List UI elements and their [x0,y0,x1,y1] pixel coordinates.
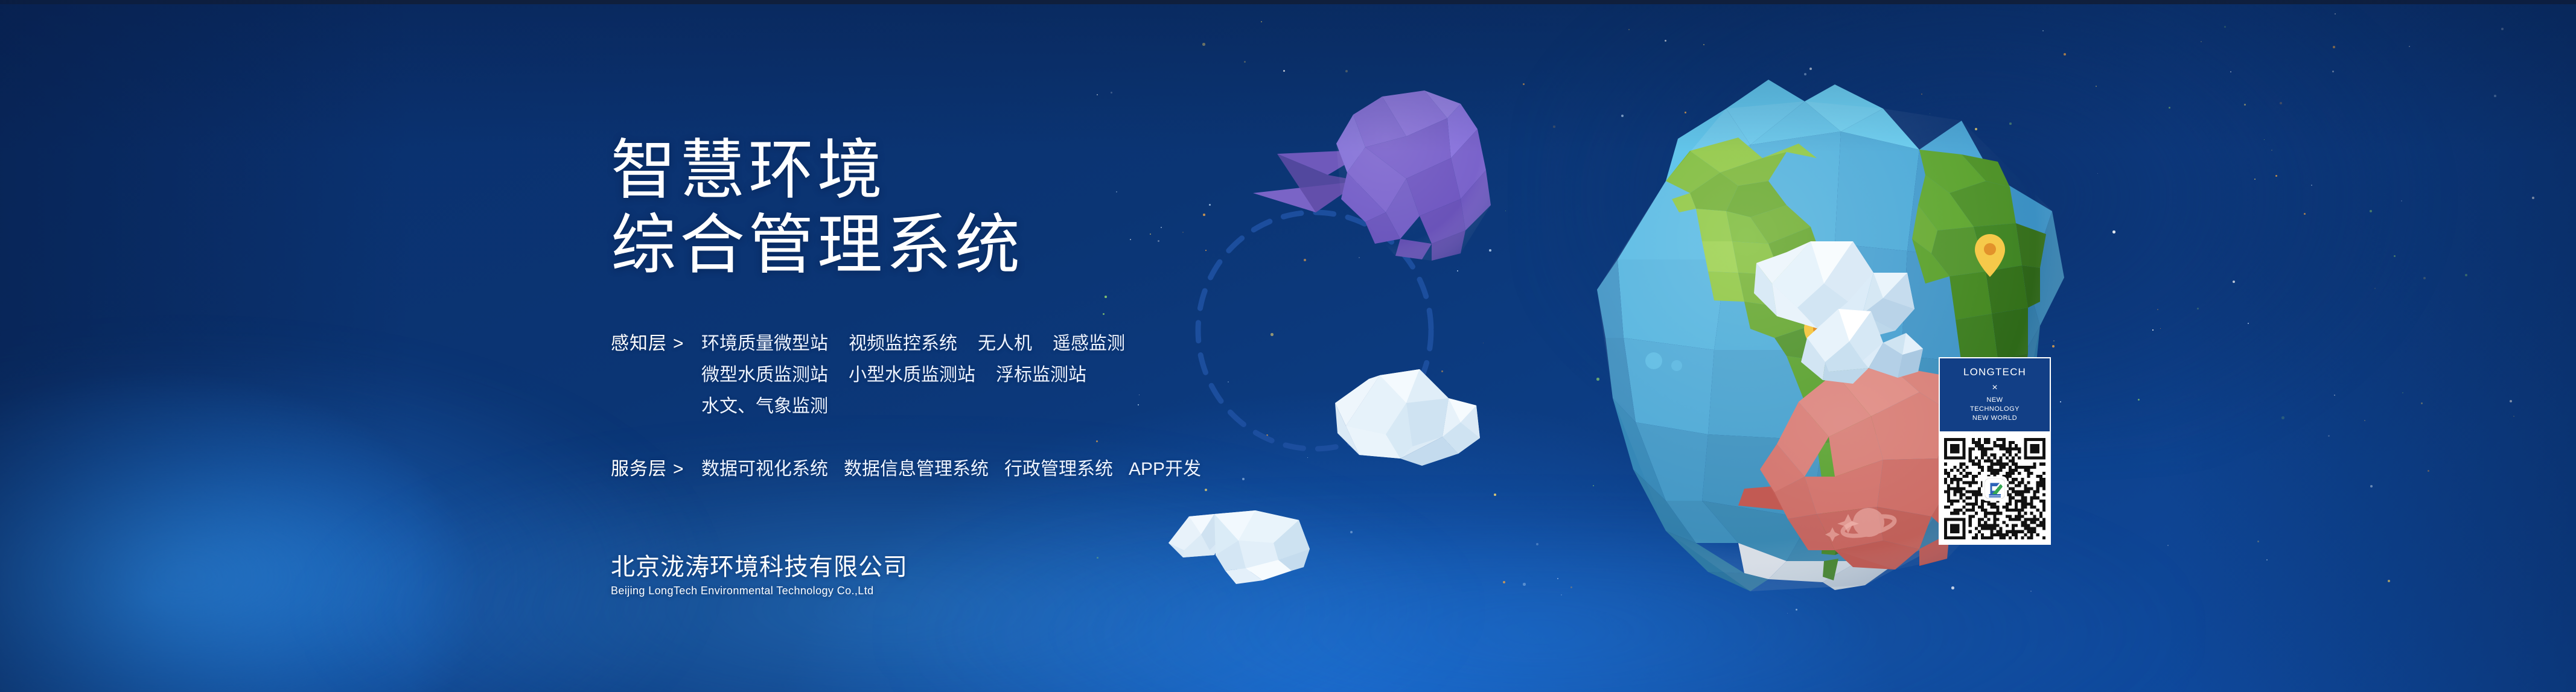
qr-code-icon[interactable] [1939,433,2051,545]
layer-item-line: 环境质量微型站视频监控系统无人机遥感监测 [701,328,1516,360]
chevron-right-icon: > [673,334,684,354]
layer-item[interactable]: 浮标监测站 [996,365,1086,385]
company-name-cn: 北京泷涛环境科技有限公司 [611,552,908,582]
company-signature: 北京泷涛环境科技有限公司 Beijing LongTech Environmen… [611,552,908,598]
layer-items-service: 数据可视化系统数据信息管理系统行政管理系统APP开发 [701,454,1516,485]
layer-label-perception: 感知层> [611,328,701,360]
layer-label-perception-text: 感知层 [611,334,667,354]
layer-item[interactable]: 水文、气象监测 [701,396,828,416]
page-title: 智慧环境 综合管理系统 [611,133,1516,282]
qr-card-header: LONGTECH × NEW TECHNOLOGY NEW WORLD [1939,357,2051,433]
layer-list: 感知层> 环境质量微型站视频监控系统无人机遥感监测 微型水质监测站小型水质监测站… [611,328,1516,485]
layer-item-line: 数据可视化系统数据信息管理系统行政管理系统APP开发 [701,454,1516,485]
top-edge-strip [0,0,2576,4]
qr-center-logo [1983,477,2007,501]
chevron-right-icon: > [673,459,684,479]
hero-banner: 智慧环境 综合管理系统 感知层> 环境质量微型站视频监控系统无人机遥感监测 微型… [0,0,2576,692]
background-glow-bottomright [905,531,2173,692]
qr-tagline-line-3: NEW WORLD [1945,414,2045,423]
layer-item[interactable]: 数据可视化系统 [701,459,828,479]
qr-card[interactable]: LONGTECH × NEW TECHNOLOGY NEW WORLD [1939,357,2051,545]
layer-row-service: 服务层> 数据可视化系统数据信息管理系统行政管理系统APP开发 [611,454,1516,485]
layer-items-perception: 环境质量微型站视频监控系统无人机遥感监测 微型水质监测站小型水质监测站浮标监测站… [701,328,1516,422]
headline-line-1: 智慧环境 [611,133,1516,208]
layer-item[interactable]: 遥感监测 [1053,334,1125,354]
layer-item[interactable]: 视频监控系统 [849,334,957,354]
layer-item-line: 微型水质监测站小型水质监测站浮标监测站 [701,360,1516,391]
qr-tagline-line-1: NEW [1945,396,2045,405]
layer-item[interactable]: 数据信息管理系统 [844,459,989,479]
qr-brand-name: LONGTECH [1945,366,2045,379]
layer-item[interactable]: 微型水质监测站 [701,365,828,385]
layer-row-perception: 感知层> 环境质量微型站视频监控系统无人机遥感监测 微型水质监测站小型水质监测站… [611,328,1516,422]
layer-item[interactable]: 无人机 [978,334,1032,354]
company-name-en: Beijing LongTech Environmental Technolog… [611,583,908,598]
layer-item[interactable]: 小型水质监测站 [849,365,975,385]
layer-item-line: 水文、气象监测 [701,391,1516,422]
headline-line-2: 综合管理系统 [611,208,1516,282]
layer-item[interactable]: 行政管理系统 [1004,459,1113,479]
headline-block: 智慧环境 综合管理系统 感知层> 环境质量微型站视频监控系统无人机遥感监测 微型… [611,133,1516,485]
qr-tagline-line-2: TECHNOLOGY [1945,405,2045,414]
layer-item[interactable]: 环境质量微型站 [701,334,828,354]
qr-code-matrix [1944,438,2045,539]
cross-icon: × [1945,380,2045,396]
layer-label-service: 服务层> [611,454,701,485]
layer-label-service-text: 服务层 [611,459,667,479]
layer-item[interactable]: APP开发 [1129,459,1201,479]
